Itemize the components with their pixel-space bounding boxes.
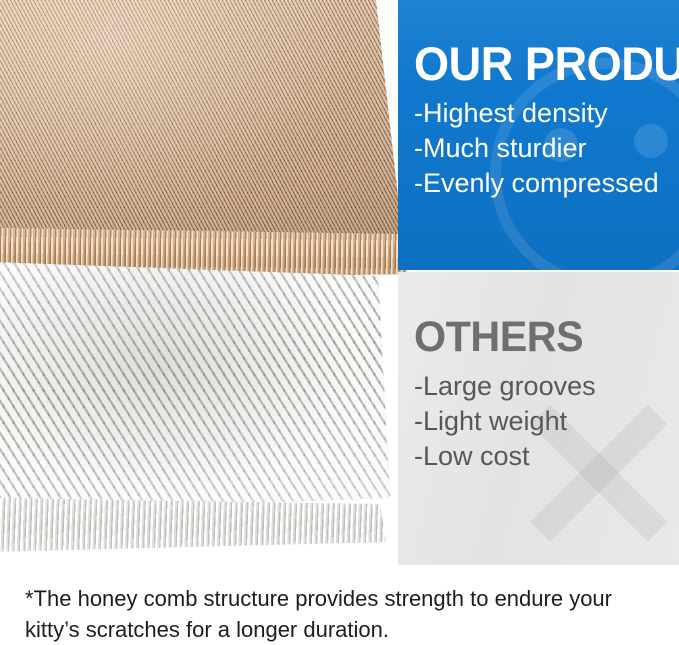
caption-area: *The honey comb structure provides stren… (0, 565, 679, 645)
our-product-bullet-list: -Highest density -Much sturdier -Evenly … (414, 96, 679, 201)
our-product-heading: OUR PRODUCT (414, 40, 679, 87)
gray-mat-flute-edge (0, 498, 388, 552)
product-photo-cardboard-honeycomb (0, 0, 405, 260)
others-photo-gray-mat (0, 262, 390, 512)
others-bullet-1: -Large grooves (414, 369, 596, 404)
others-heading: OTHERS (414, 316, 588, 359)
our-product-bullet-3: -Evenly compressed (414, 166, 679, 201)
others-bullet-list: -Large grooves -Light weight -Low cost (414, 369, 596, 474)
our-product-bullet-1: -Highest density (414, 96, 679, 131)
product-comparison-infographic: OUR PRODUCT -Highest density -Much sturd… (0, 0, 679, 645)
gray-mat-flute-edge-texture (0, 498, 388, 552)
gray-mat-lighting-overlay (0, 262, 390, 512)
our-product-bullet-2: -Much sturdier (414, 131, 679, 166)
others-text-block: OTHERS -Large grooves -Light weight -Low… (414, 316, 596, 474)
others-bullet-3: -Low cost (414, 439, 596, 474)
our-product-text-block: OUR PRODUCT -Highest density -Much sturd… (414, 40, 679, 201)
footnote-caption: *The honey comb structure provides stren… (25, 583, 665, 645)
cardboard-lighting-overlay (0, 0, 405, 260)
others-bullet-2: -Light weight (414, 404, 596, 439)
